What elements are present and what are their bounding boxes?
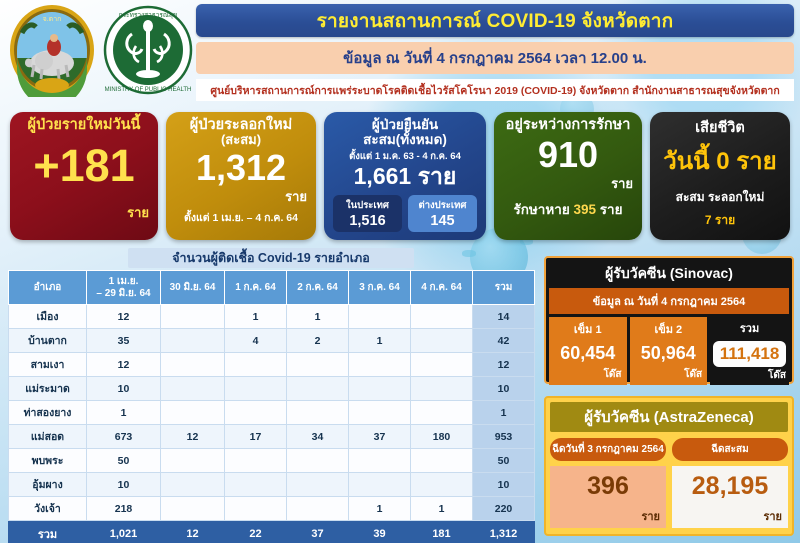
district-case-table-section: จำนวนผู้ติดเชื้อ Covid-19 รายอำเภอ อำเภอ… (8, 248, 534, 543)
cell-jul-2 (287, 449, 349, 473)
sinovac-dose2-label: เข็ม 2 (635, 320, 703, 338)
card-new-wave-title-text: ผู้ป่วยระลอกใหม่ (190, 117, 292, 133)
table-body: เมือง121114บ้านตาก3542142สามเงา1212แม่ระ… (9, 305, 535, 521)
table-footer-row: รวม 1,021 12 22 37 39 181 1,312 (9, 521, 535, 543)
card-under-treatment-value: 910 (503, 137, 633, 173)
issuing-organization: ศูนย์บริหารสถานการณ์การแพร่ระบาดโรคติดเช… (196, 79, 794, 101)
cell-jul-4 (411, 377, 473, 401)
cell-jul-3: 1 (349, 497, 411, 521)
sinovac-total: รวม 111,418 โด๊ส (710, 317, 789, 385)
district-name: สามเงา (9, 353, 87, 377)
astrazeneca-cumulative-unit: ราย (678, 507, 782, 525)
sinovac-dose-row: เข็ม 1 60,454 โด๊ส เข็ม 2 50,964 โด๊ส รว… (549, 317, 789, 385)
cell-jul-1: 4 (225, 329, 287, 353)
astrazeneca-daily-label: ฉีดวันที่ 3 กรกฎาคม 2564 (550, 438, 666, 461)
cell-row-total: 220 (473, 497, 535, 521)
table-row: ท่าสองยาง11 (9, 401, 535, 425)
cell-row-total: 10 (473, 377, 535, 401)
astrazeneca-cumulative-box: 28,195 ราย (672, 466, 788, 528)
card-new-wave-cumulative: ผู้ป่วยระลอกใหม่ (สะสม) 1,312 ราย ตั้งแต… (166, 112, 316, 240)
footer-c5: 39 (349, 521, 411, 543)
confirmed-domestic-label: ในประเทศ (335, 198, 400, 213)
cell-jul-3: 37 (349, 425, 411, 449)
district-name: พบพระ (9, 449, 87, 473)
cell-jul-3 (349, 305, 411, 329)
cell-jun-30 (161, 497, 225, 521)
confirmed-foreign-value: 145 (410, 213, 475, 229)
card-new-wave-unit: ราย (175, 186, 307, 207)
table-row: อุ้มผาง1010 (9, 473, 535, 497)
sinovac-dose1-value: 60,454 (554, 343, 622, 364)
card-deaths-cumulative-label: สะสม ระลอกใหม่ (659, 188, 781, 207)
cell-jul-1 (225, 377, 287, 401)
card-under-treatment: อยู่ระหว่างการรักษา 910 ราย รักษาหาย 395… (494, 112, 642, 240)
astrazeneca-cumulative: ฉีดสะสม 28,195 ราย (672, 438, 788, 528)
card-new-cases-unit: ราย (19, 202, 149, 223)
confirmed-foreign-label: ต่างประเทศ (410, 198, 475, 213)
footer-c1: 1,021 (87, 521, 161, 543)
cell-jun-30: 12 (161, 425, 225, 449)
header-seals: จ.ตาก ก (8, 3, 194, 101)
cell-jul-2 (287, 377, 349, 401)
cell-jul-1 (225, 473, 287, 497)
cell-jun-30 (161, 329, 225, 353)
district-name: วังเจ้า (9, 497, 87, 521)
astrazeneca-row: ฉีดวันที่ 3 กรกฎาคม 2564 396 ราย ฉีดสะสม… (550, 438, 788, 528)
cell-period-apr-jun: 673 (87, 425, 161, 449)
astrazeneca-cumulative-value: 28,195 (678, 472, 782, 501)
district-name: แม่ระมาด (9, 377, 87, 401)
cell-period-apr-jun: 50 (87, 449, 161, 473)
confirmed-foreign-box: ต่างประเทศ 145 (408, 195, 477, 232)
report-datetime: ข้อมูล ณ วันที่ 4 กรกฎาคม 2564 เวลา 12.0… (196, 42, 794, 74)
cell-row-total: 12 (473, 353, 535, 377)
sinovac-total-value: 111,418 (713, 341, 786, 367)
sinovac-title: ผู้รับวัคซีน (Sinovac) (549, 261, 789, 288)
sinovac-dose1-unit: โด๊ส (554, 367, 622, 382)
col-total: รวม (473, 271, 535, 305)
cell-row-total: 14 (473, 305, 535, 329)
cell-jul-1 (225, 497, 287, 521)
cell-row-total: 50 (473, 449, 535, 473)
table-row: เมือง121114 (9, 305, 535, 329)
cell-jul-4 (411, 473, 473, 497)
col-jul-1: 1 ก.ค. 64 (225, 271, 287, 305)
district-case-table: อำเภอ 1 เม.ย. – 29 มิ.ย. 64 30 มิ.ย. 64 … (8, 270, 535, 543)
sinovac-total-label: รวม (713, 319, 786, 337)
col-period-line1: 1 เม.ย. (109, 276, 139, 287)
card-new-wave-title: ผู้ป่วยระลอกใหม่ (สะสม) (175, 117, 307, 148)
cell-period-apr-jun: 12 (87, 305, 161, 329)
cell-jul-4: 1 (411, 497, 473, 521)
district-name: อุ้มผาง (9, 473, 87, 497)
card-deaths: เสียชีวิต วันนี้ 0 ราย สะสม ระลอกใหม่ 7 … (650, 112, 790, 240)
cell-jul-2 (287, 497, 349, 521)
cell-jul-2 (287, 401, 349, 425)
summary-cards: ผู้ป่วยรายใหม่วันนี้ +181 ราย ผู้ป่วยระล… (0, 110, 800, 242)
cell-jul-2: 2 (287, 329, 349, 353)
cell-jun-30 (161, 449, 225, 473)
confirmed-domestic-box: ในประเทศ 1,516 (333, 195, 402, 232)
astrazeneca-daily: ฉีดวันที่ 3 กรกฎาคม 2564 396 ราย (550, 438, 666, 528)
cell-jul-2 (287, 353, 349, 377)
cell-jun-30 (161, 401, 225, 425)
svg-text:กระทรวงสาธารณสุข: กระทรวงสาธารณสุข (119, 12, 178, 19)
table-header-row: อำเภอ 1 เม.ย. – 29 มิ.ย. 64 30 มิ.ย. 64 … (9, 271, 535, 305)
card-confirmed-title: ผู้ป่วยยืนยันสะสม(ทั้งหมด) (333, 117, 477, 147)
card-under-treatment-unit: ราย (503, 173, 633, 194)
cell-row-total: 42 (473, 329, 535, 353)
sinovac-total-unit: โด๊ส (713, 368, 786, 383)
cell-period-apr-jun: 218 (87, 497, 161, 521)
district-name: บ้านตาก (9, 329, 87, 353)
card-new-cases-title: ผู้ป่วยรายใหม่วันนี้ (19, 117, 149, 133)
card-new-wave-subtitle: (สะสม) (175, 133, 307, 148)
cell-row-total: 1 (473, 401, 535, 425)
district-table-title: จำนวนผู้ติดเชื้อ Covid-19 รายอำเภอ (128, 248, 414, 268)
col-period-apr-jun: 1 เม.ย. – 29 มิ.ย. 64 (87, 271, 161, 305)
cell-jul-3 (349, 473, 411, 497)
cell-jun-30 (161, 473, 225, 497)
col-jul-2: 2 ก.ค. 64 (287, 271, 349, 305)
cell-period-apr-jun: 10 (87, 377, 161, 401)
page-title: รายงานสถานการณ์ COVID-19 จังหวัดตาก (196, 4, 794, 37)
card-new-cases-today: ผู้ป่วยรายใหม่วันนี้ +181 ราย (10, 112, 158, 240)
cell-jul-2: 1 (287, 305, 349, 329)
sinovac-dose1-label: เข็ม 1 (554, 320, 622, 338)
card-deaths-title: เสียชีวิต (659, 120, 781, 136)
svg-text:MINISTRY OF PUBLIC HEALTH: MINISTRY OF PUBLIC HEALTH (105, 87, 192, 93)
district-name: แม่สอด (9, 425, 87, 449)
footer-c6: 181 (411, 521, 473, 543)
cell-jul-1: 17 (225, 425, 287, 449)
sinovac-dose2: เข็ม 2 50,964 โด๊ส (630, 317, 708, 385)
card-recovered-line: รักษาหาย 395 ราย (503, 198, 633, 220)
sinovac-dose2-unit: โด๊ส (635, 367, 703, 382)
astrazeneca-title: ผู้รับวัคซีน (AstraZeneca) (550, 402, 788, 432)
cell-jul-3 (349, 401, 411, 425)
cell-jul-4 (411, 449, 473, 473)
card-confirmed-period: ตั้งแต่ 1 ม.ค. 63 - 4 ก.ค. 64 (333, 149, 477, 164)
header-text-bars: รายงานสถานการณ์ COVID-19 จังหวัดตาก ข้อม… (196, 4, 794, 101)
infographic-canvas: จ.ตาก ก (0, 0, 800, 543)
confirmed-domestic-value: 1,516 (335, 213, 400, 229)
recovered-value: 395 (574, 202, 597, 217)
report-header: จ.ตาก ก (0, 0, 800, 104)
svg-text:จ.ตาก: จ.ตาก (43, 16, 62, 23)
sinovac-dose2-value: 50,964 (635, 343, 703, 364)
col-jun-30: 30 มิ.ย. 64 (161, 271, 225, 305)
footer-total: 1,312 (473, 521, 535, 543)
footer-c2: 12 (161, 521, 225, 543)
card-deaths-today: วันนี้ 0 ราย (659, 150, 781, 174)
card-under-treatment-title: อยู่ระหว่างการรักษา (503, 117, 633, 133)
footer-label: รวม (9, 521, 87, 543)
cell-jul-4: 180 (411, 425, 473, 449)
astrazeneca-daily-value: 396 (556, 472, 660, 501)
cell-jun-30 (161, 353, 225, 377)
tak-province-seal-icon: จ.ตาก (8, 3, 96, 102)
card-confirmed-breakdown: ในประเทศ 1,516 ต่างประเทศ 145 (333, 195, 477, 232)
col-jul-4: 4 ก.ค. 64 (411, 271, 473, 305)
card-confirmed-total: ผู้ป่วยยืนยันสะสม(ทั้งหมด) ตั้งแต่ 1 ม.ค… (324, 112, 486, 240)
cell-jul-4 (411, 401, 473, 425)
table-row: วังเจ้า21811220 (9, 497, 535, 521)
table-row: สามเงา1212 (9, 353, 535, 377)
cell-jun-30 (161, 305, 225, 329)
cell-jun-30 (161, 377, 225, 401)
cell-jul-4 (411, 329, 473, 353)
sinovac-dose1: เข็ม 1 60,454 โด๊ส (549, 317, 627, 385)
cell-jul-3 (349, 353, 411, 377)
cell-jul-3 (349, 449, 411, 473)
col-jul-3: 3 ก.ค. 64 (349, 271, 411, 305)
cell-jul-2 (287, 473, 349, 497)
cell-jul-1: 1 (225, 305, 287, 329)
district-name: ท่าสองยาง (9, 401, 87, 425)
cell-jul-4 (411, 353, 473, 377)
ministry-of-public-health-seal-icon: กระทรวงสาธารณสุข MINISTRY OF PUBLIC HEAL… (102, 4, 194, 101)
cell-period-apr-jun: 10 (87, 473, 161, 497)
sinovac-panel: ผู้รับวัคซีน (Sinovac) ข้อมูล ณ วันที่ 4… (544, 256, 794, 384)
footer-c4: 37 (287, 521, 349, 543)
cell-period-apr-jun: 12 (87, 353, 161, 377)
card-confirmed-value: 1,661 ราย (333, 165, 477, 188)
cell-period-apr-jun: 35 (87, 329, 161, 353)
astrazeneca-cumulative-label: ฉีดสะสม (672, 438, 788, 461)
card-new-wave-value: 1,312 (175, 150, 307, 186)
card-new-cases-value: +181 (19, 143, 149, 188)
astrazeneca-panel: ผู้รับวัคซีน (AstraZeneca) ฉีดวันที่ 3 ก… (544, 396, 794, 536)
recovered-unit: ราย (600, 202, 623, 217)
cell-row-total: 953 (473, 425, 535, 449)
astrazeneca-daily-box: 396 ราย (550, 466, 666, 528)
cell-period-apr-jun: 1 (87, 401, 161, 425)
cell-jul-1 (225, 401, 287, 425)
col-period-line2: – 29 มิ.ย. 64 (96, 288, 150, 299)
recovered-label: รักษาหาย (513, 202, 569, 217)
table-row: บ้านตาก3542142 (9, 329, 535, 353)
cell-row-total: 10 (473, 473, 535, 497)
card-deaths-cumulative-value: 7 ราย (659, 211, 781, 230)
table-row: แม่ระมาด1010 (9, 377, 535, 401)
cell-jul-3 (349, 377, 411, 401)
cell-jul-3: 1 (349, 329, 411, 353)
sinovac-date: ข้อมูล ณ วันที่ 4 กรกฎาคม 2564 (549, 288, 789, 314)
table-row: แม่สอด67312173437180953 (9, 425, 535, 449)
district-name: เมือง (9, 305, 87, 329)
cell-jul-1 (225, 449, 287, 473)
footer-c3: 22 (225, 521, 287, 543)
cell-jul-2: 34 (287, 425, 349, 449)
col-district: อำเภอ (9, 271, 87, 305)
astrazeneca-daily-unit: ราย (556, 507, 660, 525)
cell-jul-4 (411, 305, 473, 329)
card-new-wave-footnote: ตั้งแต่ 1 เม.ย. – 4 ก.ค. 64 (175, 209, 307, 226)
cell-jul-1 (225, 353, 287, 377)
table-row: พบพระ5050 (9, 449, 535, 473)
